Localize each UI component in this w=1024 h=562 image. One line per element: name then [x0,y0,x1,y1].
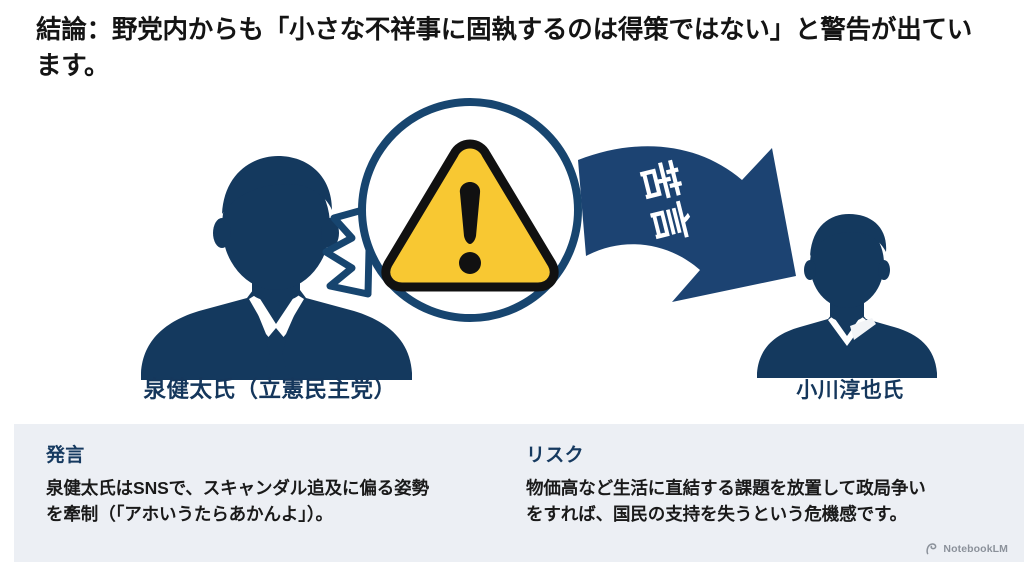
curved-arrow: 苦言 [578,146,796,302]
page-title: 結論：野党内からも「小さな不祥事に固執するのは得策ではない」と警告が出ています。 [36,12,996,84]
info-column-risk-body: 物価高など生活に直結する課題を放置して政局争い をすれば、国民の支持を失うという… [526,475,996,528]
watermark: NotebookLM [926,543,1008,555]
illustration-stage: 苦言 [0,78,1024,418]
info-panel: 発言 泉健太氏はSNSで、スキャンダル追及に偏る姿勢 を牽制（「アホいうたらあか… [14,424,1024,562]
caption-left-figure: 泉健太氏（立憲民主党） [60,372,480,404]
info-column-risk-heading: リスク [526,444,996,468]
info-column-statement: 発言 泉健太氏はSNSで、スキャンダル追及に偏る姿勢 を牽制（「アホいうたらあか… [14,444,510,562]
watermark-label: NotebookLM [943,543,1008,555]
info-column-statement-heading: 発言 [46,444,500,468]
caption-right-figure: 小川淳也氏 [700,374,1000,404]
notebooklm-logo-icon [926,543,939,555]
info-column-statement-body: 泉健太氏はSNSで、スキャンダル追及に偏る姿勢 を牽制（「アホいうたらあかんよ」… [46,475,500,528]
